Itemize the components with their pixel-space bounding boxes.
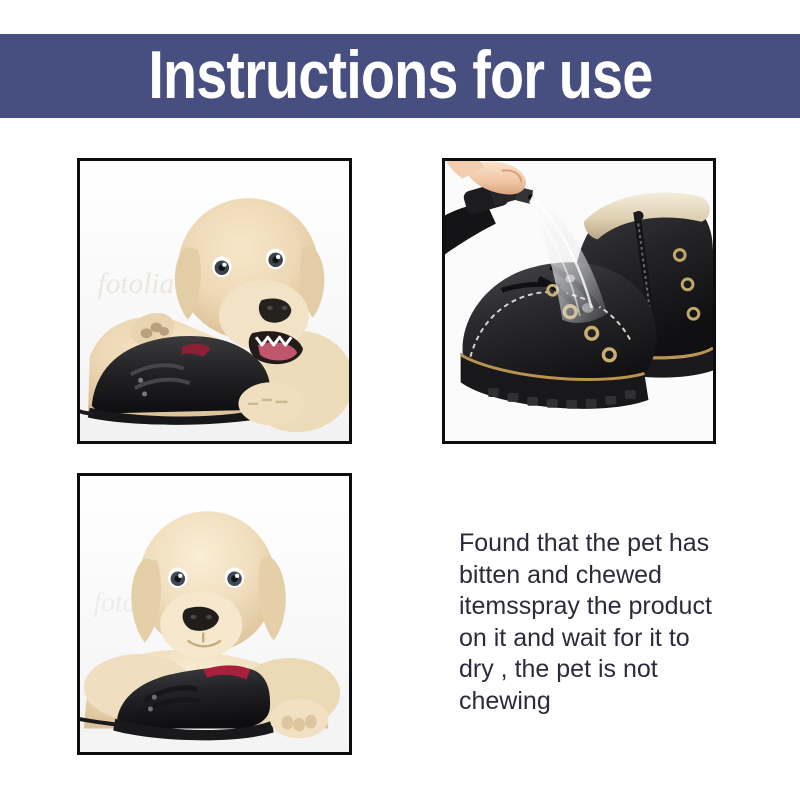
- spray-on-boots-illustration: [445, 161, 713, 441]
- puppy-not-chewing-illustration: fotolia: [80, 476, 349, 752]
- photo-panel-spray-on-boots: [442, 158, 716, 444]
- puppy-chewing-shoe-illustration: fotolia: [80, 161, 349, 441]
- photo-panel-puppy-chewing-shoe: fotolia: [77, 158, 352, 444]
- instructions-caption: Found that the pet has bitten and chewed…: [459, 528, 727, 717]
- instructions-banner: Instructions for use: [0, 34, 800, 118]
- photo-panel-puppy-not-chewing: fotolia: [77, 473, 352, 755]
- page-title: Instructions for use: [148, 41, 652, 109]
- svg-text:fotolia: fotolia: [98, 268, 175, 300]
